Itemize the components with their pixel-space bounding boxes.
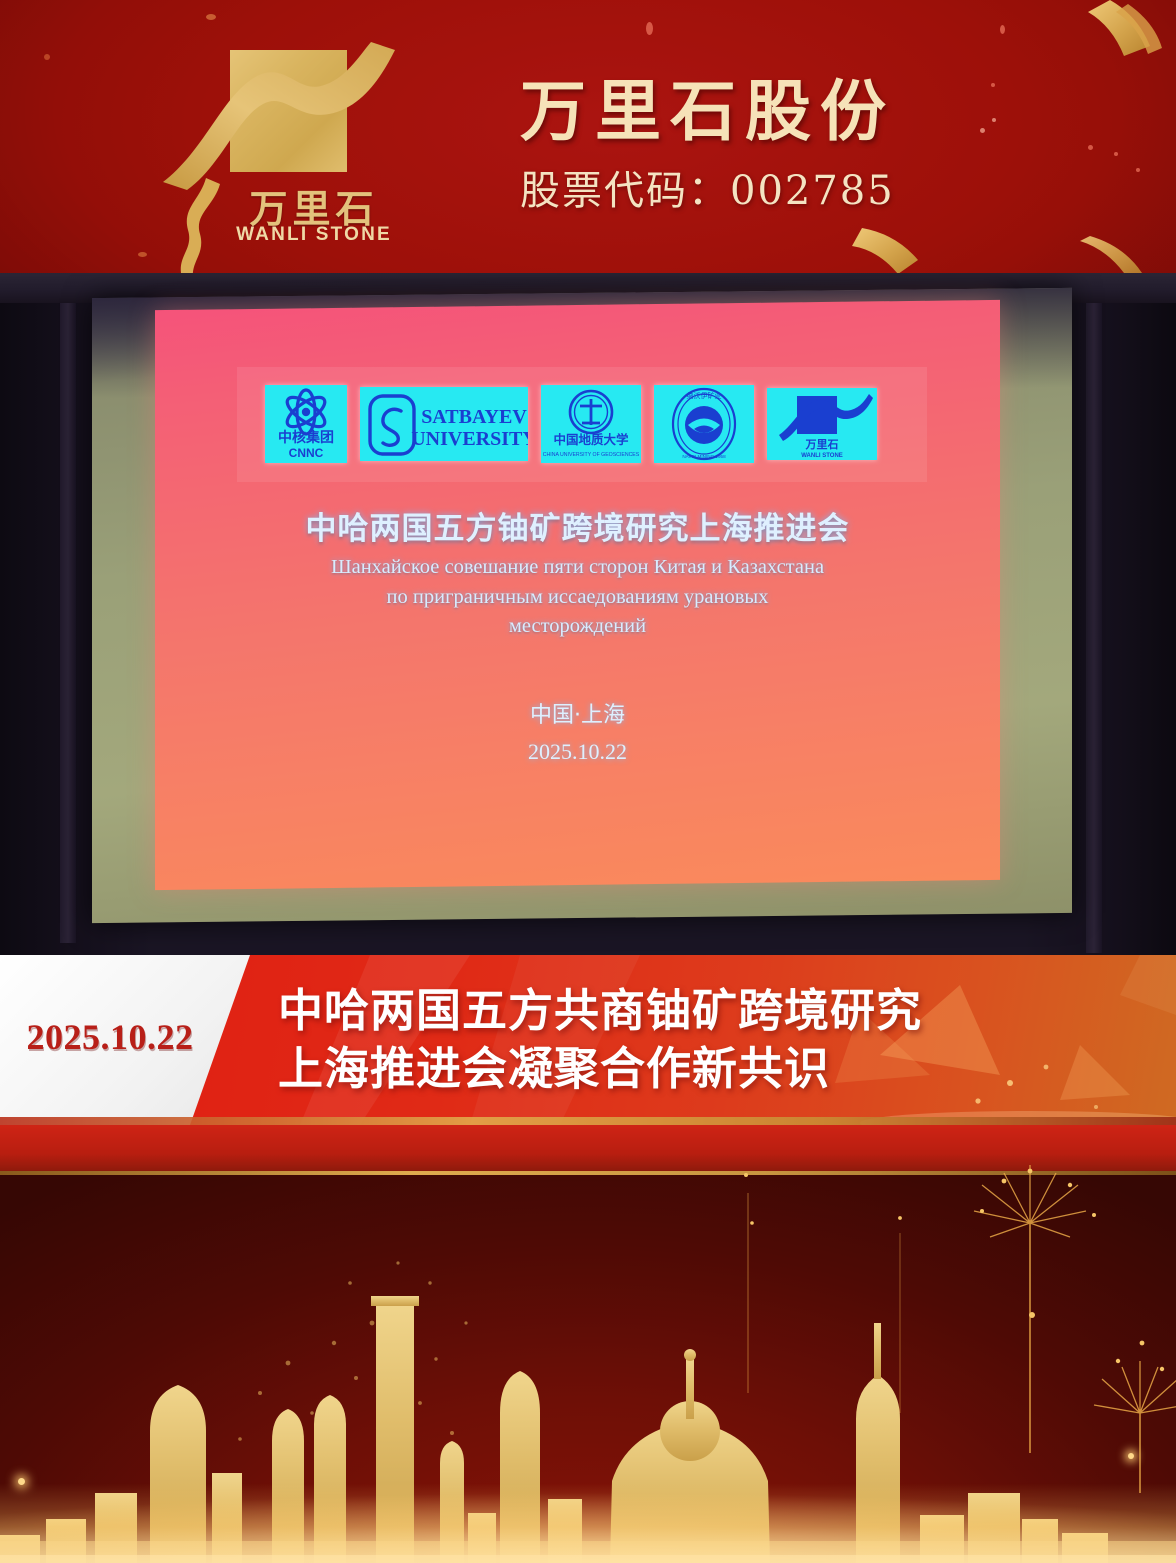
svg-text:WANLI STONE: WANLI STONE: [801, 453, 843, 459]
slide-city: 中国·上海: [155, 697, 1000, 729]
china-university-of-geosciences-logo: 中国地质大学 CHINA UNIVERSITY OF GEOSCIENCES: [541, 385, 641, 463]
caption-headline-line-1: 中哈两国五方共商铀矿跨境研究: [278, 982, 978, 1040]
navoi-mining-logo: 纳沃伊矿业 NAVOI MINING 1958: [654, 385, 754, 463]
slide-date: 2025.10.22: [155, 739, 1000, 765]
header-banner: 万里石 WANLI STONE 万里石股份 股票代码：002785: [0, 0, 1176, 273]
satbayev-university-logo: SATBAYEV UNIVERSITY: [360, 387, 528, 461]
hall-pillar: [1086, 303, 1102, 953]
organization-logo-row: 中核集团 CNNC SATBAYEV UNIVERSITY: [265, 383, 905, 465]
svg-text:万里石: 万里石: [805, 438, 839, 451]
svg-text:SATBAYEV: SATBAYEV: [421, 406, 527, 428]
footer-city-scene: [0, 1125, 1176, 1563]
caption-headline-line-2: 上海推进会凝聚合作新共识: [278, 1040, 978, 1098]
hall-pillar: [60, 303, 76, 943]
svg-text:UNIVERSITY: UNIVERSITY: [411, 428, 528, 450]
stock-code: 股票代码：002785: [520, 158, 990, 216]
wanli-stone-logo: 万里石 WANLI STONE: [767, 388, 877, 460]
logo-swoosh-icon: [145, 32, 425, 192]
cnnc-logo: 中核集团 CNNC: [265, 385, 347, 463]
slide-title-chinese: 中哈两国五方铀矿跨境研究上海推进会: [155, 503, 1000, 548]
stage-photo: 中核集团 CNNC SATBAYEV UNIVERSITY: [0, 273, 1176, 955]
company-title: 万里石股份: [520, 58, 990, 154]
caption-banner: 2025.10.22 中哈两国五方共商铀矿跨境研究 上海推进会凝聚合作新共识: [0, 955, 1176, 1125]
footer-bottom-glow: [0, 1483, 1176, 1563]
presentation-slide: 中核集团 CNNC SATBAYEV UNIVERSITY: [155, 300, 1000, 890]
svg-text:CNNC: CNNC: [289, 446, 324, 460]
svg-text:纳沃伊矿业: 纳沃伊矿业: [687, 391, 722, 400]
brand-logo: 万里石 WANLI STONE: [160, 28, 520, 253]
svg-text:CHINA UNIVERSITY OF GEOSCIENCE: CHINA UNIVERSITY OF GEOSCIENCES: [543, 452, 640, 458]
caption-headline: 中哈两国五方共商铀矿跨境研究 上海推进会凝聚合作新共识: [278, 982, 978, 1097]
caption-date: 2025.10.22: [10, 1016, 210, 1058]
caption-bottom-edge: [0, 1117, 1176, 1125]
svg-text:中核集团: 中核集团: [278, 429, 334, 446]
slide-subtitle-line-3: месторождений: [155, 612, 1000, 642]
slide-subtitle-russian: Шанхайское совешание пяти сторон Китая и…: [155, 553, 1000, 642]
svg-text:中国地质大学: 中国地质大学: [553, 432, 629, 447]
ground-spark: [1128, 1453, 1134, 1459]
svg-text:NAVOI MINING 1958: NAVOI MINING 1958: [682, 454, 726, 459]
logo-english-name: WANLI STONE: [204, 224, 424, 246]
poster-root: 万里石 WANLI STONE 万里石股份 股票代码：002785: [0, 0, 1176, 1563]
slide-subtitle-line-2: по приграничным иссаедованиям урановых: [155, 583, 1000, 613]
slide-subtitle-line-1: Шанхайское совешание пяти сторон Китая и…: [155, 553, 1000, 583]
